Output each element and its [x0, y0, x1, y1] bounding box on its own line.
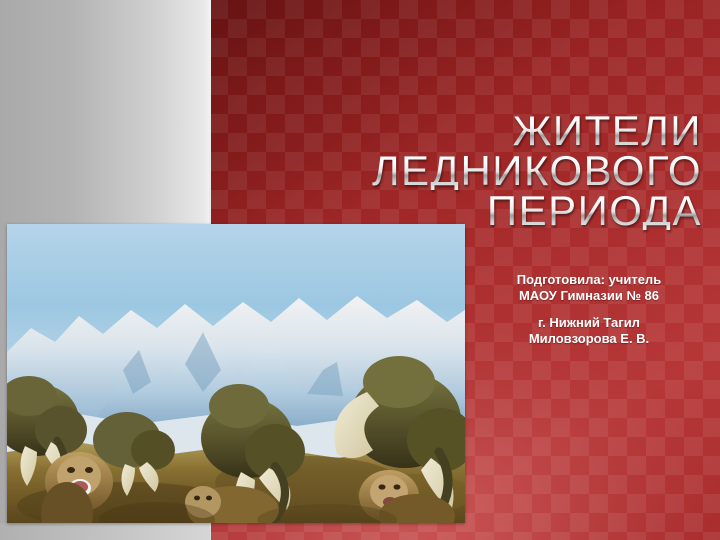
subtitle-paragraph-location: г. Нижний Тагил Миловзорова Е. В.	[470, 315, 708, 346]
subtitle-line-2: МАОУ Гимназии № 86	[519, 288, 659, 303]
page-title-line-2: Ледникового	[232, 152, 702, 190]
bottom-left-grey-strip	[0, 523, 210, 540]
page-title-line-1: Жители	[232, 112, 702, 150]
subtitle-line-1: Подготовила: учитель	[517, 272, 661, 287]
subtitle-paragraph-author: Подготовила: учитель МАОУ Гимназии № 86	[470, 272, 708, 303]
subtitle-line-4: Миловзорова Е. В.	[529, 331, 649, 346]
page-title-line-3: Периода	[232, 192, 702, 230]
page-title: Жители Ледникового Периода	[232, 112, 702, 230]
subtitle-line-3: г. Нижний Тагил	[538, 315, 640, 330]
title-slide: Жители Ледникового Периода Подготовила: …	[0, 0, 720, 540]
slide-subtitle: Подготовила: учитель МАОУ Гимназии № 86 …	[470, 272, 708, 346]
ice-age-illustration-graphic	[7, 224, 465, 523]
ice-age-illustration	[7, 224, 465, 523]
